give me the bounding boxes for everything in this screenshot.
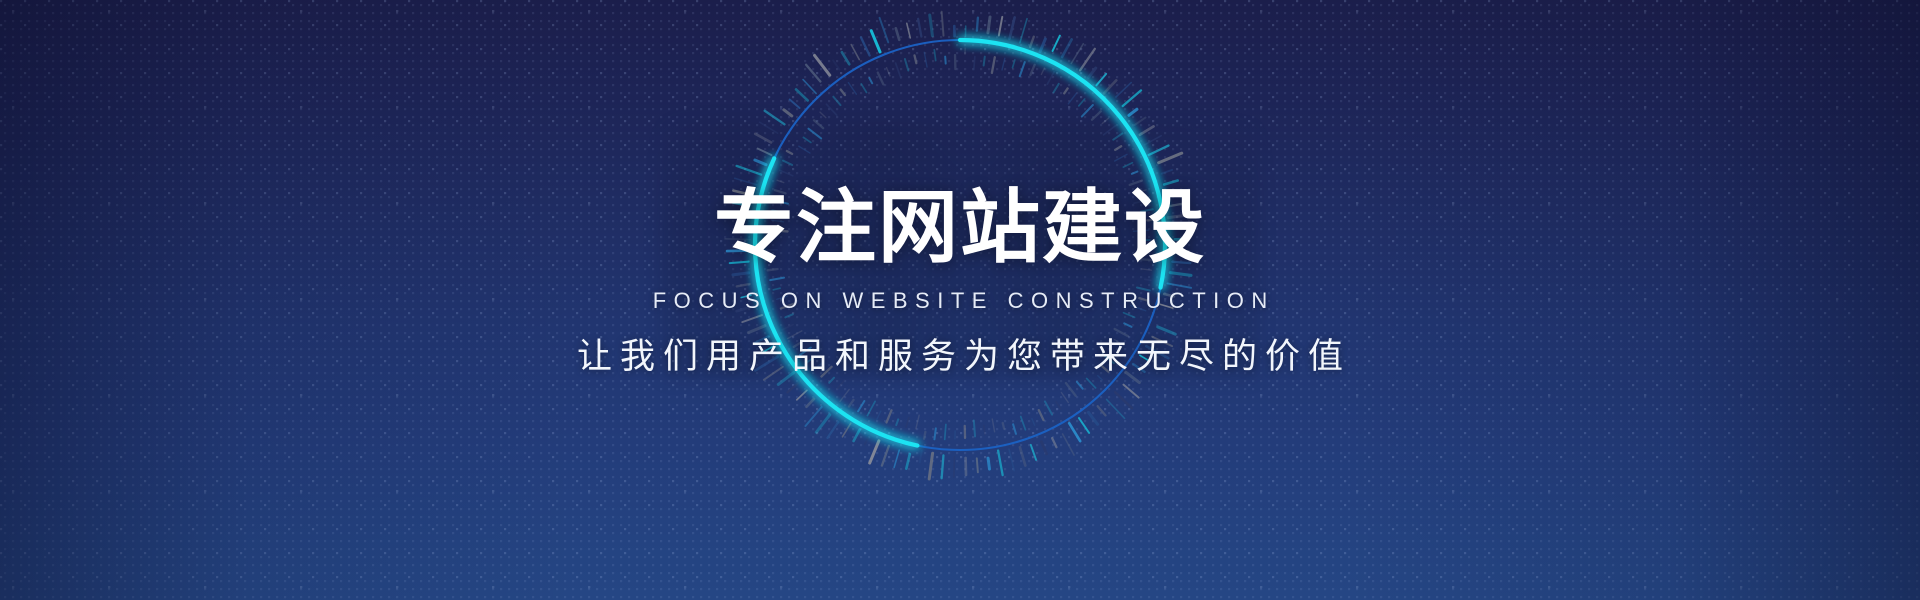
- hero-banner: 专注网站建设 FOCUS ON WEBSITE CONSTRUCTION 让我们…: [0, 0, 1920, 600]
- page-title: 专注网站建设: [714, 188, 1206, 268]
- page-tagline: 让我们用产品和服务为您带来无尽的价值: [569, 338, 1351, 377]
- hero-copy-block: 专注网站建设 FOCUS ON WEBSITE CONSTRUCTION 让我们…: [0, 0, 1920, 600]
- page-subtitle: FOCUS ON WEBSITE CONSTRUCTION: [645, 290, 1275, 312]
